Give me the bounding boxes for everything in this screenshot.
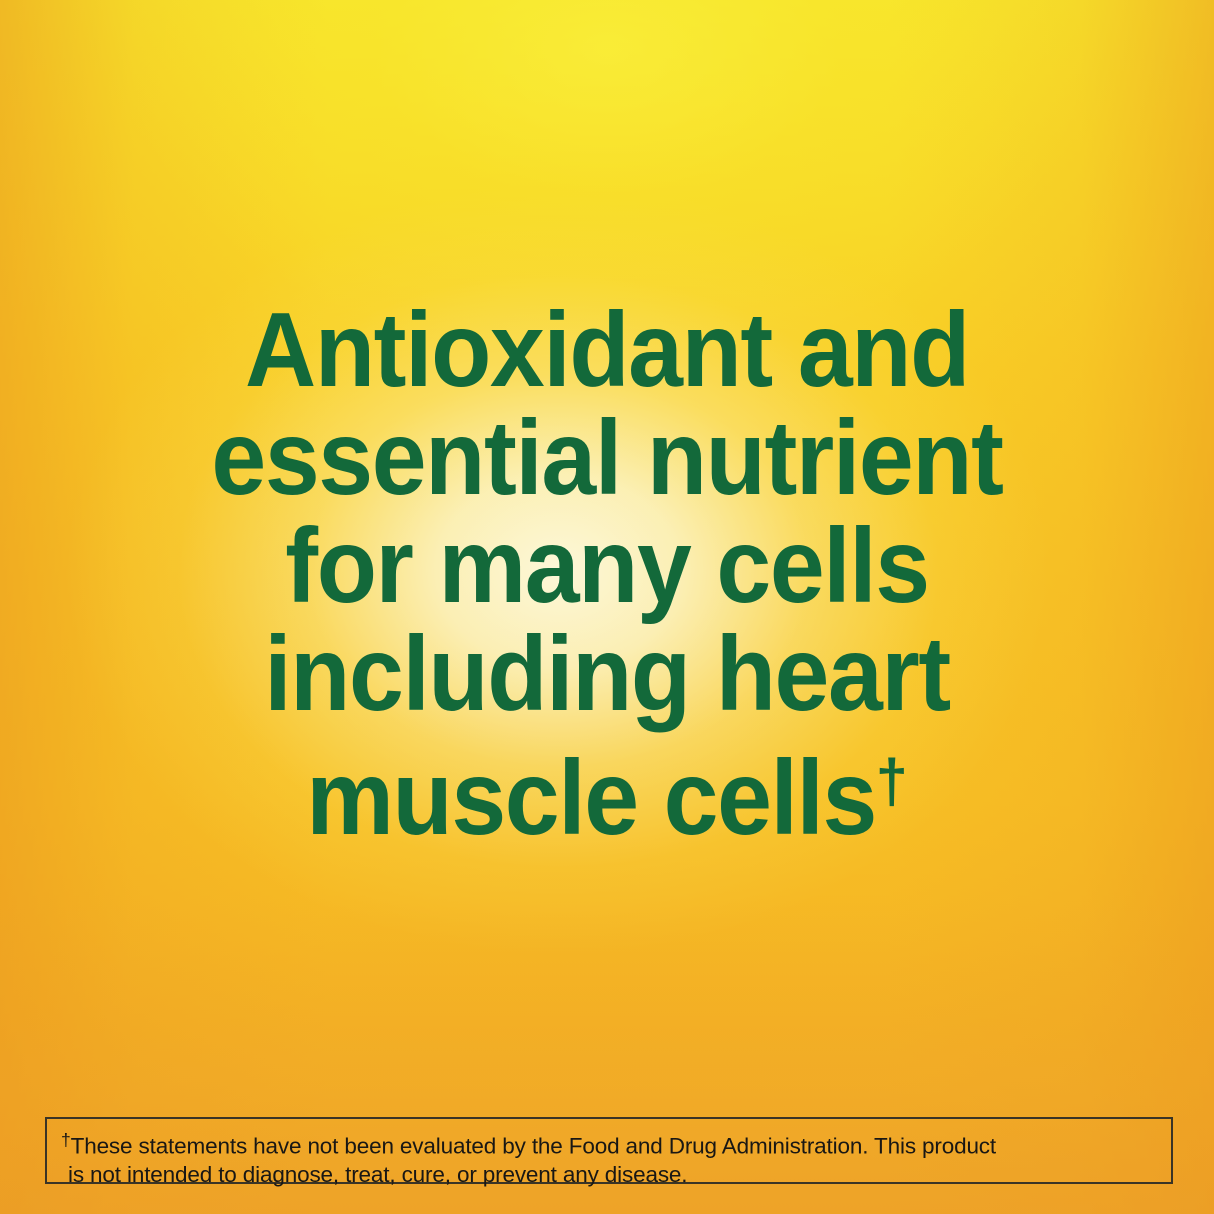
fda-disclaimer-box: †These statements have not been evaluate…	[45, 1117, 1173, 1184]
headline-line-2: essential nutrient	[42, 404, 1171, 512]
headline-line-1: Antioxidant and	[42, 296, 1171, 404]
headline-line-5-text: muscle cells	[306, 739, 876, 857]
fda-disclaimer-text: †These statements have not been evaluate…	[61, 1126, 1157, 1189]
headline-line-4: including heart	[42, 620, 1171, 728]
disclaimer-line-1-text: These statements have not been evaluated…	[71, 1133, 996, 1158]
disclaimer-line-2: is not intended to diagnose, treat, cure…	[61, 1160, 1157, 1189]
product-benefit-panel: Antioxidant and essential nutrient for m…	[0, 0, 1214, 1214]
headline-footnote-marker: †	[876, 747, 908, 816]
headline-line-5: muscle cells†	[42, 728, 1171, 852]
headline-line-3: for many cells	[42, 512, 1171, 620]
disclaimer-footnote-marker: †	[61, 1130, 71, 1150]
disclaimer-line-1: †These statements have not been evaluate…	[61, 1126, 1157, 1160]
headline: Antioxidant and essential nutrient for m…	[42, 296, 1171, 852]
